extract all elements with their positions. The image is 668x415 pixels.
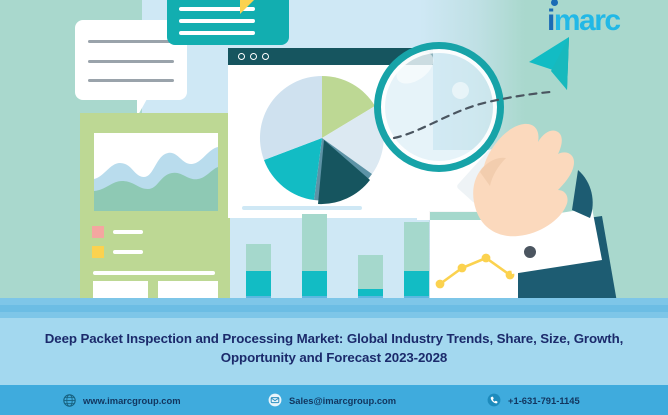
globe-icon [62,393,76,407]
title-band: Deep Packet Inspection and Processing Ma… [0,312,668,385]
note-card-fold-icon [240,0,254,14]
legend-label-line [113,250,143,254]
green-dashboard-panel [80,113,230,305]
bar-segment-base [302,271,327,296]
footer-email-label: Sales@imarcgroup.com [289,395,396,406]
bar-segment-base [404,271,429,296]
floor-strip-dark [0,305,668,312]
legend-label-line [113,230,143,234]
logo-letter-i: i [547,4,554,37]
bar-item [246,244,271,306]
footer-website-label: www.imarcgroup.com [83,395,181,406]
bar-segment-base [246,271,271,296]
teal-note-card [167,0,289,45]
footer-phone[interactable]: +1-631-791-1145 [487,393,580,407]
illustration-stage [0,0,668,312]
bar-segment-growth [246,244,271,271]
legend-swatch-pink [92,226,104,238]
browser-footer-line [242,206,362,210]
window-dot-icon [238,53,245,60]
note-card-line [179,31,255,35]
imarc-logo[interactable]: imarc [547,6,620,36]
bar-item [404,222,429,306]
bar-chart [246,212,436,306]
cuff-button-icon [524,246,536,258]
bar-segment-growth [404,222,429,271]
envelope-icon [268,393,282,407]
bar-item [302,214,327,306]
window-dot-icon [262,53,269,60]
phone-icon [487,393,501,407]
footer-email[interactable]: Sales@imarcgroup.com [268,393,396,407]
sleeve-shadow [572,170,593,218]
imarc-report-banner: imarc Deep Packet Inspection and Process… [0,0,668,415]
bar-segment-base [358,289,383,296]
legend-swatch-yellow [92,246,104,258]
footer-phone-label: +1-631-791-1145 [508,395,580,406]
speech-bubble-line [88,60,174,63]
area-chart-svg [94,133,218,211]
speech-bubble-line [88,79,174,82]
pie-slice-exploded [318,140,370,204]
title-band-top-strip [0,312,668,318]
page-title: Deep Packet Inspection and Processing Ma… [22,329,646,368]
footer-bar: www.imarcgroup.com Sales@imarcgroup.com … [0,385,668,415]
panel-divider [93,271,215,275]
footer-website[interactable]: www.imarcgroup.com [62,393,181,407]
note-card-line [179,19,255,23]
logo-text-marc: marc [554,4,620,37]
hand-holding-magnifier [440,110,668,310]
window-dot-icon [250,53,257,60]
area-chart [94,133,218,211]
bar-segment-growth [358,255,383,289]
bar-segment-growth [302,214,327,271]
speech-bubble-line [88,40,174,43]
